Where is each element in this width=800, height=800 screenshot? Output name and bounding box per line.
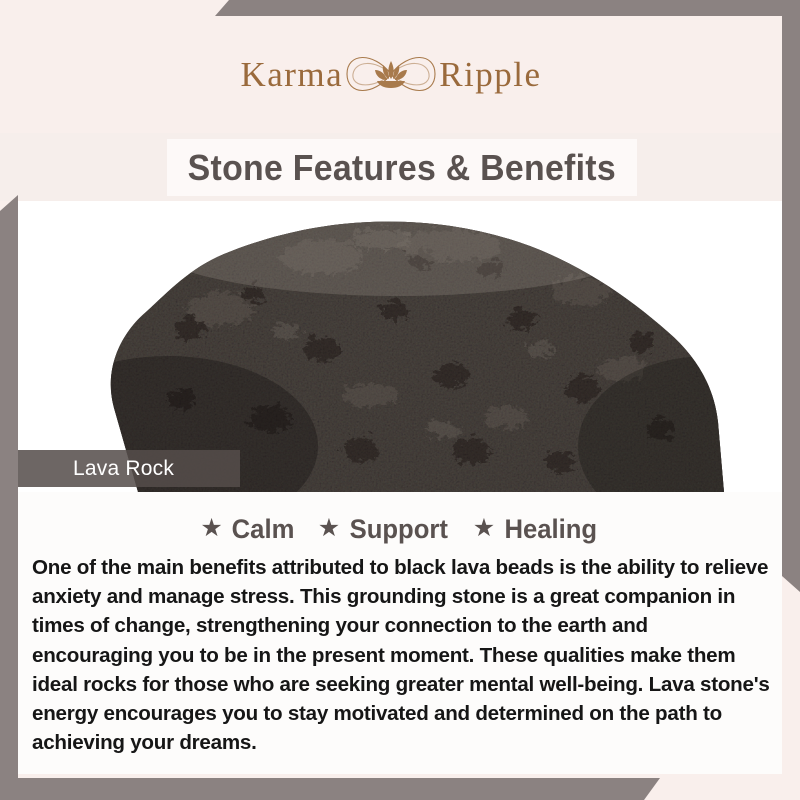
frame-edge-top — [215, 0, 800, 16]
benefit-tag-label: Healing — [505, 514, 598, 545]
photo-caption-bar: Lava Rock — [18, 450, 240, 487]
frame-edge-left — [0, 195, 18, 800]
page-title: Stone Features & Benefits — [188, 147, 616, 189]
brand-word-left: Karma — [240, 57, 343, 92]
benefit-tag-label: Support — [350, 514, 448, 545]
brand-logo: Karma — [226, 43, 556, 105]
star-icon: ★ — [200, 516, 222, 541]
brand-logo-area: Karma — [0, 15, 782, 133]
frame-edge-bottom — [0, 778, 660, 800]
frame-edge-right — [782, 0, 800, 592]
stone-benefits-infographic-card: Karma — [0, 0, 800, 800]
brand-word-right: Ripple — [439, 57, 541, 92]
title-plate: Stone Features & Benefits — [167, 139, 637, 196]
benefit-tag-support: ★ Support — [318, 514, 451, 545]
star-icon: ★ — [318, 516, 340, 541]
photo-caption-label: Lava Rock — [18, 457, 174, 481]
benefits-description-text: One of the main benefits attributed to b… — [32, 553, 770, 758]
lava-rock-photo — [18, 196, 782, 492]
star-icon: ★ — [473, 516, 495, 541]
benefit-tag-row: ★ Calm ★ Support ★ Healing — [18, 492, 782, 545]
benefit-tag-healing: ★ Healing — [473, 514, 600, 545]
benefit-tag-calm: ★ Calm — [200, 514, 295, 545]
lotus-flower-ornament-icon — [345, 43, 437, 105]
content-panel: ★ Calm ★ Support ★ Healing One of the ma… — [18, 492, 782, 774]
benefit-tag-label: Calm — [231, 514, 294, 545]
